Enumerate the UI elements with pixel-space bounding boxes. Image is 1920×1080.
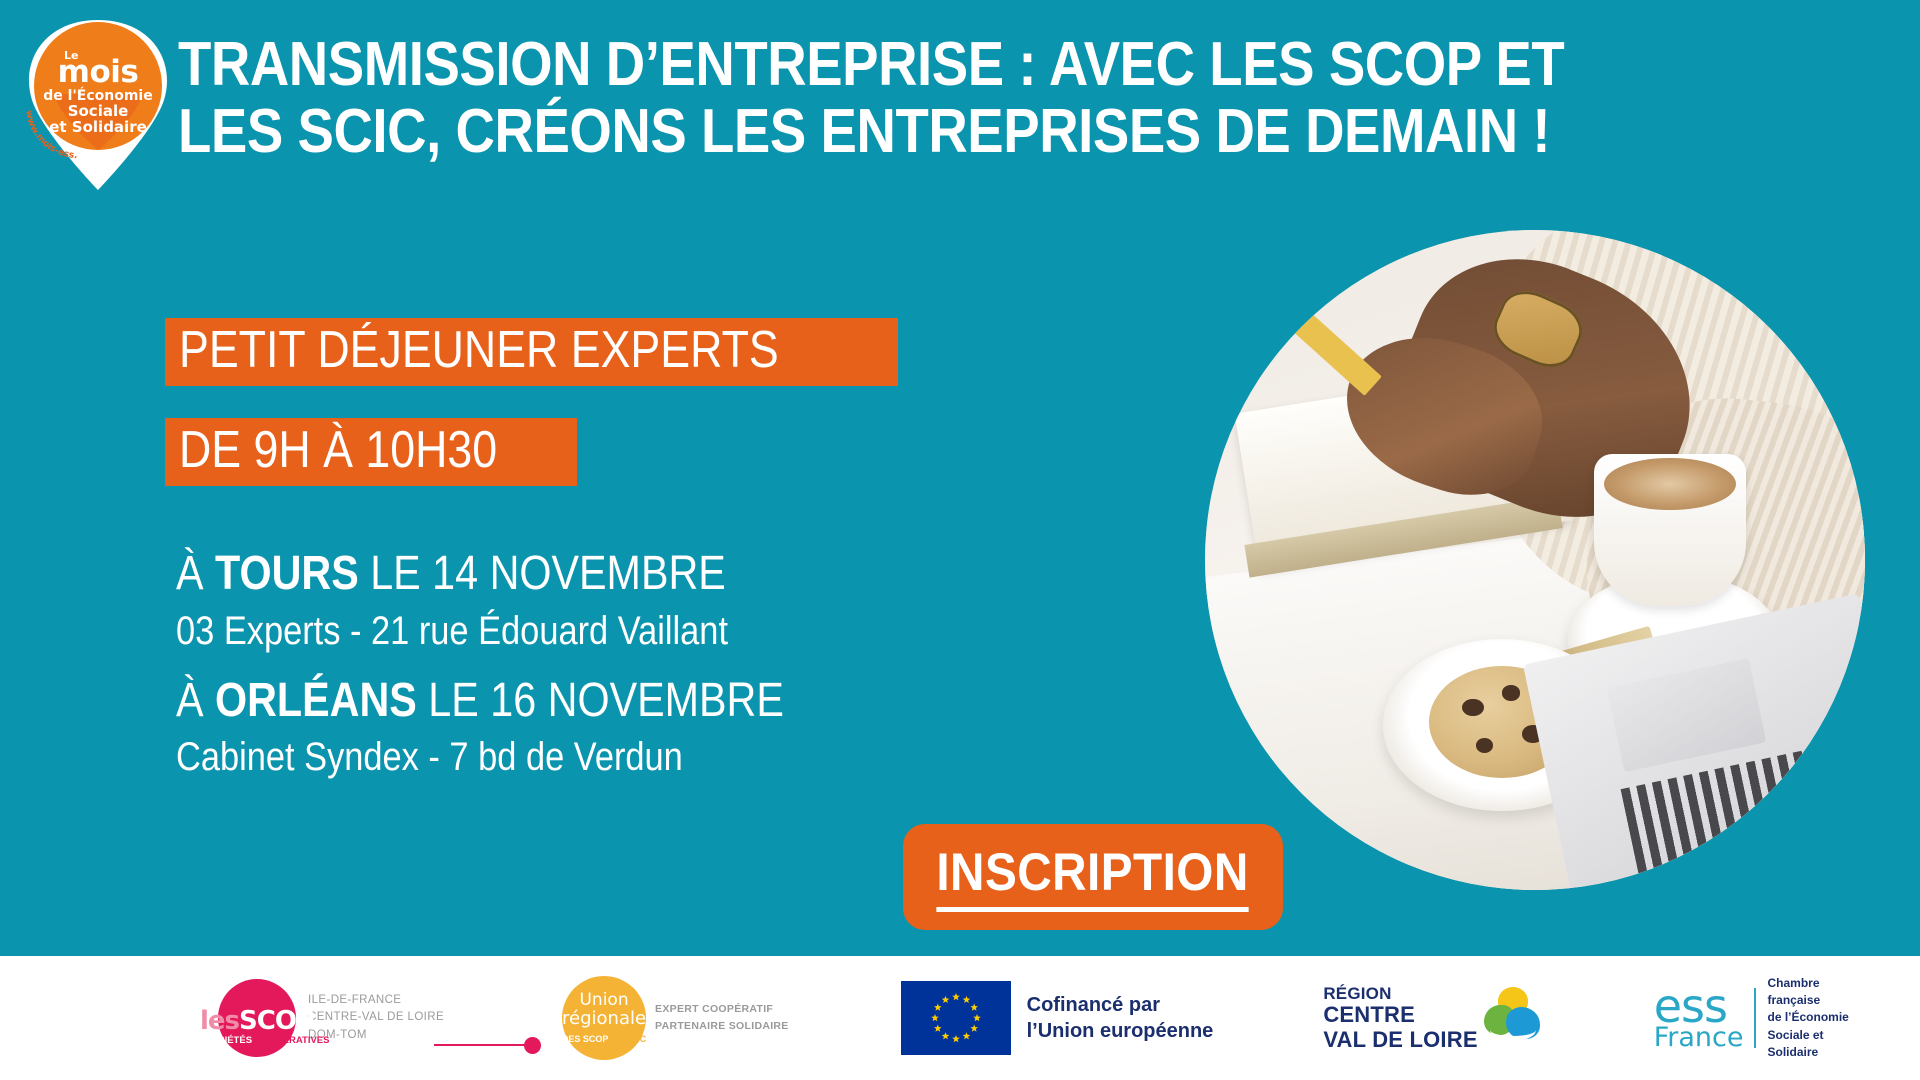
location-0-date: LE 14 NOVEMBRE	[359, 547, 726, 600]
ess-logo-line-2: France	[1654, 1025, 1744, 1051]
union-sub-scop: DES SCOP	[562, 1034, 611, 1044]
union-desc-0: EXPERT COOPÉRATIF	[655, 1001, 789, 1018]
pin-logo-url: www.mois-ess.org	[20, 100, 82, 162]
lescop-sub-societes: SOCIÉTÉS	[204, 1035, 255, 1046]
location-1-city: ORLÉANS	[215, 674, 417, 727]
union-subtitle: DES SCOP ET SCIC	[562, 1034, 646, 1044]
ess-desc-2: de l’Économie	[1767, 1009, 1848, 1026]
lescop-sub-cooperatives: COOPÉRATIVES	[255, 1035, 330, 1046]
svg-text:www.mois-ess.org: www.mois-ess.org	[20, 100, 78, 161]
european-union-logo: Cofinancé par l’Union européenne	[901, 981, 1214, 1055]
photo-choc-chip	[1476, 738, 1493, 753]
region-line-1: RÉGION	[1323, 984, 1477, 1003]
lescop-word-le: les	[200, 1006, 239, 1036]
location-0-prefix: À	[176, 547, 215, 600]
ess-desc-0: Chambre	[1767, 975, 1848, 992]
pin-line-mois: mois	[58, 57, 139, 88]
lescop-region-1: CENTRE-VAL DE LOIRE	[308, 1009, 444, 1026]
ess-desc-4: Solidaire	[1767, 1044, 1848, 1061]
lescop-connector-line	[434, 1044, 526, 1046]
ess-france-wordmark: ess France	[1654, 985, 1744, 1050]
lescop-word-scop: SCOP	[239, 1006, 314, 1036]
union-regionale-circle-icon: Union régionale DES SCOP ET SCIC	[562, 976, 646, 1060]
page-title: TRANSMISSION D’ENTREPRISE : AVEC LES SCO…	[178, 32, 1428, 166]
union-regionale-description: EXPERT COOPÉRATIF PARTENAIRE SOLIDAIRE	[655, 1001, 789, 1035]
inscription-button-label: INSCRIPTION	[937, 842, 1249, 912]
event-time-label: DE 9H À 10H30	[179, 420, 497, 480]
location-0-address: 03 Experts - 21 rue Édouard Vaillant	[176, 606, 728, 656]
location-1-date: LE 16 NOVEMBRE	[417, 674, 784, 727]
ess-divider	[1754, 988, 1756, 1048]
photo-choc-chip	[1502, 685, 1520, 700]
ess-france-description: Chambre française de l’Économie Sociale …	[1767, 975, 1848, 1062]
union-desc-1: PARTENAIRE SOLIDAIRE	[655, 1018, 789, 1035]
event-type-label: PETIT DÉJEUNER EXPERTS	[179, 320, 779, 380]
photo-coffee-crema	[1604, 458, 1736, 511]
event-time-badge: DE 9H À 10H30	[165, 418, 577, 486]
event-poster: Le mois de l'Économie Sociale et Solidai…	[0, 0, 1920, 1080]
region-line-3: VAL DE LOIRE	[1323, 1028, 1477, 1053]
region-wordmark: RÉGION CENTRE VAL DE LOIRE	[1323, 984, 1477, 1052]
partner-logos-footer: lesSCOP SOCIÉTÉS COOPÉRATIVES ILE-DE-FRA…	[0, 956, 1920, 1080]
lescop-wordmark: lesSCOP	[200, 1006, 314, 1036]
ess-desc-3: Sociale et	[1767, 1027, 1848, 1044]
union-regionale-logo: Union régionale DES SCOP ET SCIC EXPERT …	[562, 976, 789, 1060]
region-line-2: CENTRE	[1323, 1003, 1477, 1028]
headline-line-1: TRANSMISSION D’ENTREPRISE : AVEC LES SCO…	[178, 32, 1428, 99]
lescop-connector-dot	[524, 1037, 541, 1054]
union-line-1: Union	[579, 992, 628, 1009]
event-type-badge: PETIT DÉJEUNER EXPERTS	[165, 318, 898, 386]
location-address-line: 03 Experts - 21 rue Édouard Vaillant	[176, 606, 1076, 656]
lescop-logo: lesSCOP SOCIÉTÉS COOPÉRATIVES ILE-DE-FRA…	[218, 979, 444, 1057]
location-1-prefix: À	[176, 674, 215, 727]
eu-stars-icon	[901, 981, 1011, 1055]
mois-ess-logo: Le mois de l'Économie Sociale et Solidai…	[18, 8, 178, 193]
union-line-2: régionale	[562, 1009, 646, 1029]
photo-choc-chip	[1462, 699, 1483, 716]
location-city-line: À TOURS LE 14 NOVEMBRE	[176, 545, 1076, 604]
headline-line-2: LES SCIC, CRÉONS LES ENTREPRISES DE DEMA…	[178, 99, 1428, 166]
eu-text-line-2: l’Union européenne	[1027, 1018, 1214, 1044]
eu-flag-icon	[901, 981, 1011, 1055]
location-city-line: À ORLÉANS LE 16 NOVEMBRE	[176, 672, 1076, 731]
ess-desc-1: française	[1767, 992, 1848, 1009]
location-address-line: Cabinet Syndex - 7 bd de Verdun	[176, 732, 1076, 782]
union-sub-scic: ET SCIC	[611, 1034, 647, 1044]
lescop-region-0: ILE-DE-FRANCE	[308, 992, 444, 1009]
locations-list: À TOURS LE 14 NOVEMBRE 03 Experts - 21 r…	[176, 545, 1076, 798]
eu-text-line-1: Cofinancé par	[1027, 992, 1214, 1018]
lescop-subtitle: SOCIÉTÉS COOPÉRATIVES	[204, 1035, 329, 1046]
location-0-city: TOURS	[215, 547, 359, 600]
lescop-circle-icon: lesSCOP SOCIÉTÉS COOPÉRATIVES	[218, 979, 296, 1057]
eu-funding-text: Cofinancé par l’Union européenne	[1027, 992, 1214, 1044]
region-centre-val-de-loire-logo: RÉGION CENTRE VAL DE LOIRE	[1323, 984, 1541, 1052]
event-photo	[1205, 230, 1865, 890]
region-swoosh	[1490, 1019, 1536, 1041]
ess-france-logo: ess France Chambre française de l’Économ…	[1654, 975, 1849, 1062]
region-emblem-icon	[1484, 987, 1542, 1049]
location-1-address: Cabinet Syndex - 7 bd de Verdun	[176, 732, 683, 782]
